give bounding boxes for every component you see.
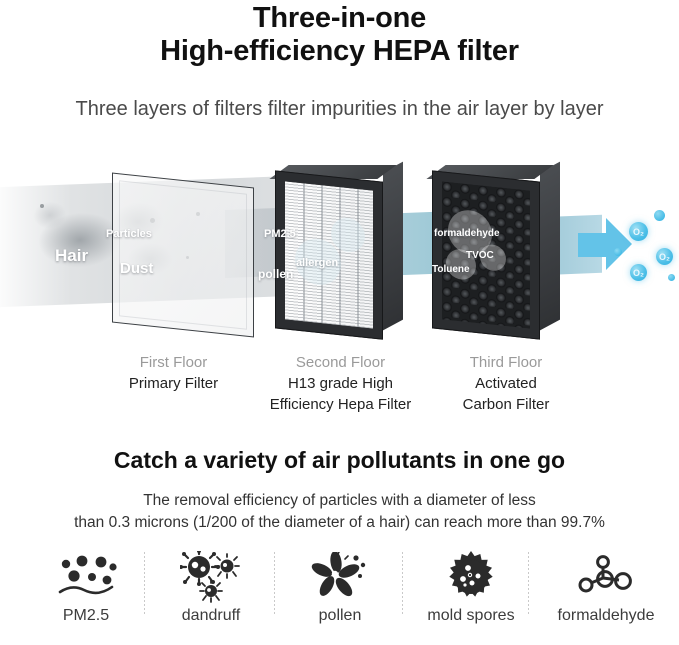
caption-third-floor: Third Floor Activated Carbon Filter: [432, 352, 580, 415]
pollutant-label: dandruff: [155, 606, 267, 626]
caption-filter-name-2: Efficiency Hepa Filter: [258, 394, 423, 415]
caption-filter-name-2: Carbon Filter: [432, 394, 580, 415]
diagram-label-toluene: Toluene: [432, 264, 470, 275]
diagram-label-pm25: PM2.5: [264, 228, 296, 240]
oxygen-molecule-icon: O₂: [656, 248, 673, 265]
formaldehyde-molecule-icon: [540, 548, 672, 606]
diagram-label-pollen: pollen: [258, 267, 293, 281]
caption-floor-label: Second Floor: [258, 352, 423, 373]
diagram-label-formaldehyde: formaldehyde: [434, 228, 500, 239]
page-subtitle: Three layers of filters filter impuritie…: [0, 98, 679, 121]
pollutant-item-mold-spores: mold spores: [412, 548, 530, 643]
diagram-label-allergen: allergen: [296, 257, 338, 269]
icon-divider: [402, 552, 403, 614]
title-line-2: High-efficiency HEPA filter: [0, 35, 679, 68]
section-description: The removal efficiency of particles with…: [0, 490, 679, 534]
air-dot: [614, 248, 622, 256]
pollutant-label: formaldehyde: [540, 606, 672, 626]
pollutant-label: mold spores: [412, 606, 530, 626]
diagram-label-particles: Particles: [106, 228, 152, 240]
pollutant-item-pm25: PM2.5: [30, 548, 142, 643]
dust-speck: [40, 204, 44, 208]
caption-filter-name: Primary Filter: [96, 373, 251, 394]
pollutant-icon-row: PM2.5: [0, 548, 679, 643]
arrow-head: [606, 218, 632, 270]
pollutant-item-dandruff: dandruff: [155, 548, 267, 643]
title-line-1: Three-in-one: [0, 2, 679, 35]
layer-captions: First Floor Primary Filter Second Floor …: [0, 352, 679, 414]
description-line-2: than 0.3 microns (1/200 of the diameter …: [0, 512, 679, 534]
pollen-flower-icon: [288, 548, 392, 606]
caption-filter-name: Activated: [432, 373, 580, 394]
caption-floor-label: Third Floor: [432, 352, 580, 373]
infographic-page: Three-in-one High-efficiency HEPA filter…: [0, 0, 679, 645]
oxygen-molecule-icon: O₂: [629, 222, 648, 241]
hepa-side-face: [383, 162, 403, 331]
dandruff-mite-icon: [155, 548, 267, 606]
caption-first-floor: First Floor Primary Filter: [96, 352, 251, 394]
air-dot: [668, 274, 675, 281]
page-title: Three-in-one High-efficiency HEPA filter: [0, 2, 679, 68]
pollutant-item-formaldehyde: formaldehyde: [540, 548, 672, 643]
caption-second-floor: Second Floor H13 grade High Efficiency H…: [258, 352, 423, 415]
carbon-side-face: [540, 162, 560, 331]
filter-diagram: Hair Particles Dust PM2.5 pollen allerge…: [0, 160, 679, 360]
clean-air-arrow-icon: [578, 218, 630, 270]
oxygen-molecule-icon: O₂: [630, 264, 647, 281]
diagram-label-hair: Hair: [55, 246, 88, 266]
diagram-label-tvoc: TVOC: [466, 250, 494, 261]
caption-filter-name: H13 grade High: [258, 373, 423, 394]
air-dot: [654, 210, 665, 221]
pollutant-label: pollen: [288, 606, 392, 626]
primary-filter-graphic: [112, 173, 254, 338]
mold-spore-icon: [412, 548, 530, 606]
description-line-1: The removal efficiency of particles with…: [0, 490, 679, 512]
hepa-divider: [357, 189, 359, 327]
pollutant-label: PM2.5: [30, 606, 142, 626]
hepa-front-frame: [275, 170, 383, 339]
diagram-label-dust: Dust: [120, 260, 153, 277]
section-heading: Catch a variety of air pollutants in one…: [0, 447, 679, 474]
icon-divider: [144, 552, 145, 614]
hepa-media-window: [285, 181, 373, 328]
icon-divider: [274, 552, 275, 614]
pm25-dots-icon: [30, 548, 142, 606]
caption-floor-label: First Floor: [96, 352, 251, 373]
pollutant-item-pollen: pollen: [288, 548, 392, 643]
